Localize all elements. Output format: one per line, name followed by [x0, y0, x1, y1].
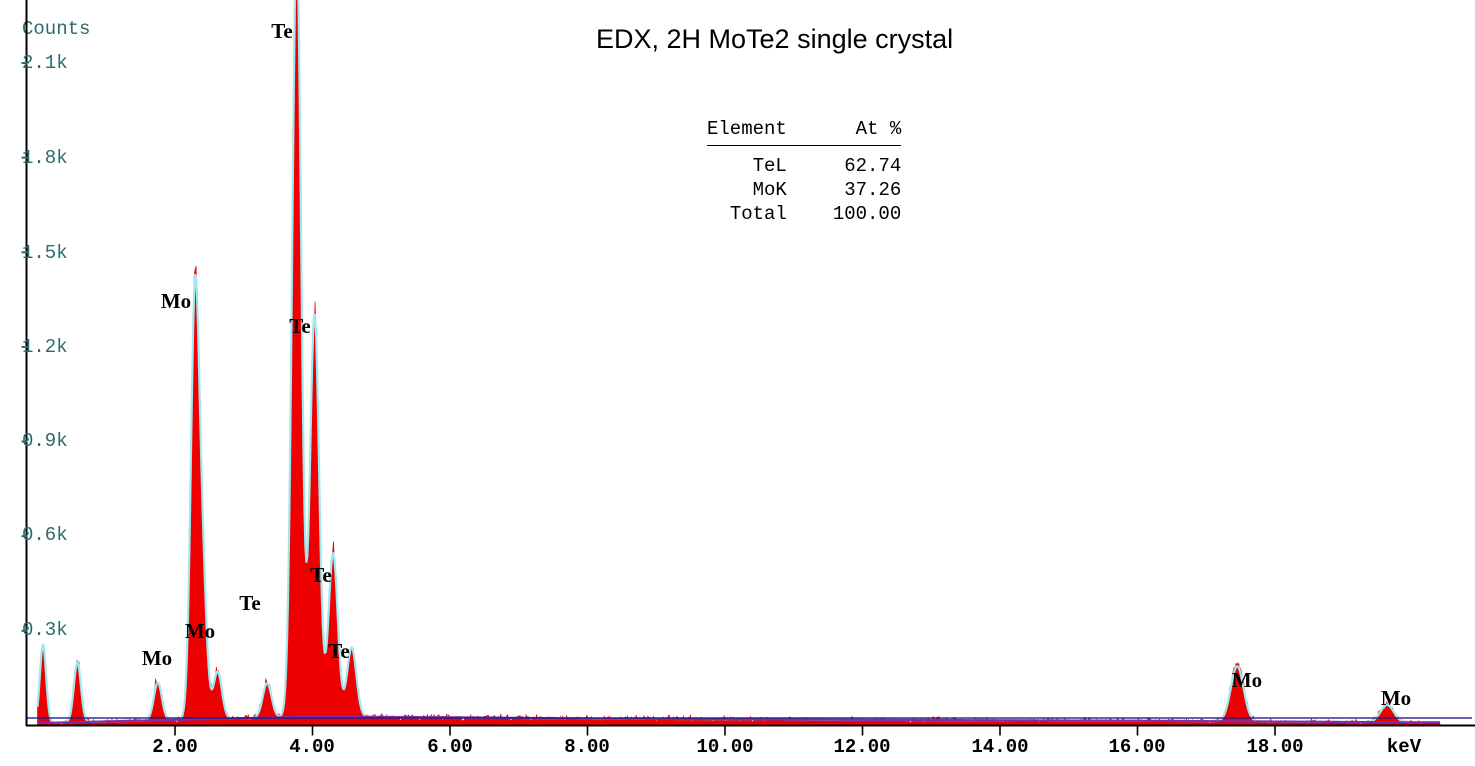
peak-label-mo-lg: Mo — [185, 619, 215, 644]
cell-at-pct: 37.26 — [787, 178, 901, 202]
y-tick-label: 1.5k — [22, 242, 68, 264]
x-tick-label: 18.00 — [1246, 736, 1303, 758]
y-tick-label: 0.6k — [22, 524, 68, 546]
x-tick-label: 14.00 — [971, 736, 1028, 758]
x-tick-label: 6.00 — [427, 736, 473, 758]
table-row: Total 100.00 — [707, 202, 901, 226]
y-tick-label: 1.2k — [22, 336, 68, 358]
cell-at-pct: 62.74 — [787, 146, 901, 179]
peak-label-te-lb2: Te — [310, 563, 331, 588]
peak-label-te-la: Te — [271, 19, 292, 44]
peak-label-mo-ll: Mo — [142, 646, 172, 671]
table-row: MoK 37.26 — [707, 178, 901, 202]
peak-label-te-lg: Te — [328, 639, 349, 664]
peak-label-te-ll: Te — [239, 591, 260, 616]
column-header-at-pct: At % — [787, 118, 901, 146]
spectrum-plot — [0, 0, 1475, 766]
y-tick-label: 0.3k — [22, 619, 68, 641]
cell-element-total: Total — [707, 202, 787, 226]
cell-element: TeL — [707, 146, 787, 179]
edx-spectrum-figure: EDX, 2H MoTe2 single crystal Counts 2.1k… — [0, 0, 1475, 766]
composition-table: Element At % TeL 62.74 MoK 37.26 Total 1… — [707, 118, 901, 226]
cell-element: MoK — [707, 178, 787, 202]
x-tick-label: 8.00 — [564, 736, 610, 758]
table-header-row: Element At % — [707, 118, 901, 146]
x-tick-label: 12.00 — [833, 736, 890, 758]
peak-label-te-lb1: Te — [289, 314, 310, 339]
axis-lines — [26, 0, 1475, 726]
cell-at-pct-total: 100.00 — [787, 202, 901, 226]
table-row: TeL 62.74 — [707, 146, 901, 179]
x-tick-label: 4.00 — [289, 736, 335, 758]
x-tick-label: 16.00 — [1108, 736, 1165, 758]
peak-label-mo-la: Mo — [161, 289, 191, 314]
y-tick-label: 0.9k — [22, 430, 68, 452]
y-tick-label: 1.8k — [22, 147, 68, 169]
y-tick-label: 2.1k — [22, 52, 68, 74]
peak-label-mo-kb: Mo — [1381, 686, 1411, 711]
spectrum-trace — [38, 0, 1441, 725]
column-header-element: Element — [707, 118, 787, 146]
x-tick-label: 10.00 — [696, 736, 753, 758]
x-tick-label: 2.00 — [152, 736, 198, 758]
peak-label-mo-ka: Mo — [1232, 668, 1262, 693]
x-axis-unit-label: keV — [1387, 736, 1421, 758]
